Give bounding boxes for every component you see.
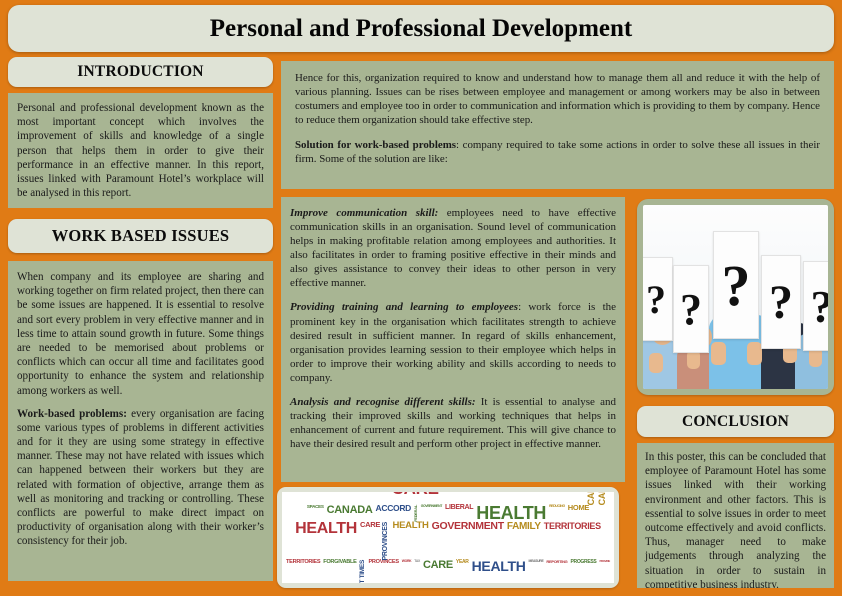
wordcloud-word: TERRITORIES (286, 560, 320, 583)
work-based-issues-heading-text: WORK BASED ISSUES (52, 226, 230, 246)
solution-item-1-lead: Improve communication skill: (290, 207, 438, 219)
work-based-issues-paragraph-2: Work-based problems: every organisation … (17, 407, 264, 549)
question-card-3: ? (713, 231, 759, 339)
introduction-body: Personal and professional development kn… (8, 93, 273, 208)
solution-lead: Solution for work-based problems (295, 139, 456, 151)
question-marks-photo: ? ? ? ? ? (643, 205, 828, 389)
solution-item-2: Providing training and learning to emplo… (290, 300, 616, 384)
question-card-5: ? (803, 261, 828, 351)
solution-item-1-rest: employees need to have effective communi… (290, 207, 616, 289)
wordcloud-word: FAMILY (507, 522, 541, 561)
section-heading-conclusion: CONCLUSION (637, 406, 834, 437)
wordcloud-frame: HEALTHCARESERVICESUPBASEDACTANDCAREGIVER… (277, 487, 619, 588)
wordcloud-word: HEALTH (295, 522, 357, 561)
work-based-problems-lead: Work-based problems: (17, 408, 127, 420)
wordcloud-word: FORGIVABLE (323, 560, 356, 583)
wordcloud-word: CARE (587, 492, 595, 505)
conclusion-heading-text: CONCLUSION (682, 413, 789, 431)
wordcloud-word: PROGRESS (571, 560, 597, 583)
wordcloud-word: MEASURE (529, 560, 544, 583)
work-based-problems-rest: every organisation are facing some vario… (17, 408, 264, 548)
wordcloud-word: GOVERNMENT (432, 522, 504, 561)
work-based-issues-paragraph-1: When company and its employee are sharin… (17, 270, 264, 398)
wordcloud-word: REPORTING (546, 560, 567, 583)
question-card-4: ? (761, 255, 801, 349)
wordcloud-word: TAX (414, 560, 420, 583)
question-card-2: ? (673, 265, 709, 353)
wordcloud-word: TERRITORIES (544, 522, 601, 561)
wordcloud-word: HEALTH (472, 560, 526, 583)
wordcloud-word: HEALTH (393, 522, 429, 561)
wordcloud-word: CARE (360, 522, 380, 561)
wordcloud-word: PROVINCES (383, 522, 389, 561)
poster-canvas: Personal and Professional Development IN… (0, 0, 842, 596)
wordcloud-word: PROVIDE (599, 560, 610, 583)
question-card-1: ? (643, 257, 673, 341)
work-based-issues-body: When company and its employee are sharin… (8, 261, 273, 581)
top-middle-body: Hence for this, organization required to… (281, 61, 834, 189)
solution-item-2-rest: : work force is the prominent key in the… (290, 301, 616, 383)
solution-item-2-lead: Providing training and learning to emplo… (290, 301, 518, 313)
solution-item-3-lead: Analysis and recognise different skills: (290, 396, 476, 408)
solution-item-1: Improve communication skill: employees n… (290, 206, 616, 290)
health-care-word-cloud: HEALTHCARESERVICESUPBASEDACTANDCAREGIVER… (282, 492, 614, 583)
top-middle-paragraph-2: Solution for work-based problems: compan… (295, 139, 820, 167)
solution-item-3: Analysis and recognise different skills:… (290, 395, 616, 451)
wordcloud-word: REDUCING (549, 505, 565, 522)
wordcloud-word: PROVINCES (369, 560, 399, 583)
wordcloud-word: HOME (568, 505, 589, 522)
solutions-body: Improve communication skill: employees n… (281, 197, 625, 482)
wordcloud-word: WAIT TIMES (360, 560, 366, 583)
conclusion-paragraph: In this poster, this can be concluded th… (645, 450, 826, 588)
conclusion-body: In this poster, this can be concluded th… (637, 443, 834, 588)
section-heading-introduction: INTRODUCTION (8, 57, 273, 87)
poster-title-panel: Personal and Professional Development (8, 5, 834, 52)
wordcloud-word: CARE (423, 560, 453, 583)
wordcloud-word: YEAR (456, 560, 469, 583)
top-middle-paragraph-1: Hence for this, organization required to… (295, 72, 820, 128)
introduction-heading-text: INTRODUCTION (77, 63, 203, 81)
wordcloud-word: CARE (598, 492, 606, 505)
section-heading-work-based-issues: WORK BASED ISSUES (8, 219, 273, 253)
wordcloud-word: WORK (402, 560, 412, 583)
wordcloud-word: FEDERAL (414, 505, 418, 522)
page-title: Personal and Professional Development (210, 15, 632, 43)
question-marks-photo-frame: ? ? ? ? ? (637, 199, 834, 395)
introduction-paragraph: Personal and professional development kn… (17, 101, 264, 200)
